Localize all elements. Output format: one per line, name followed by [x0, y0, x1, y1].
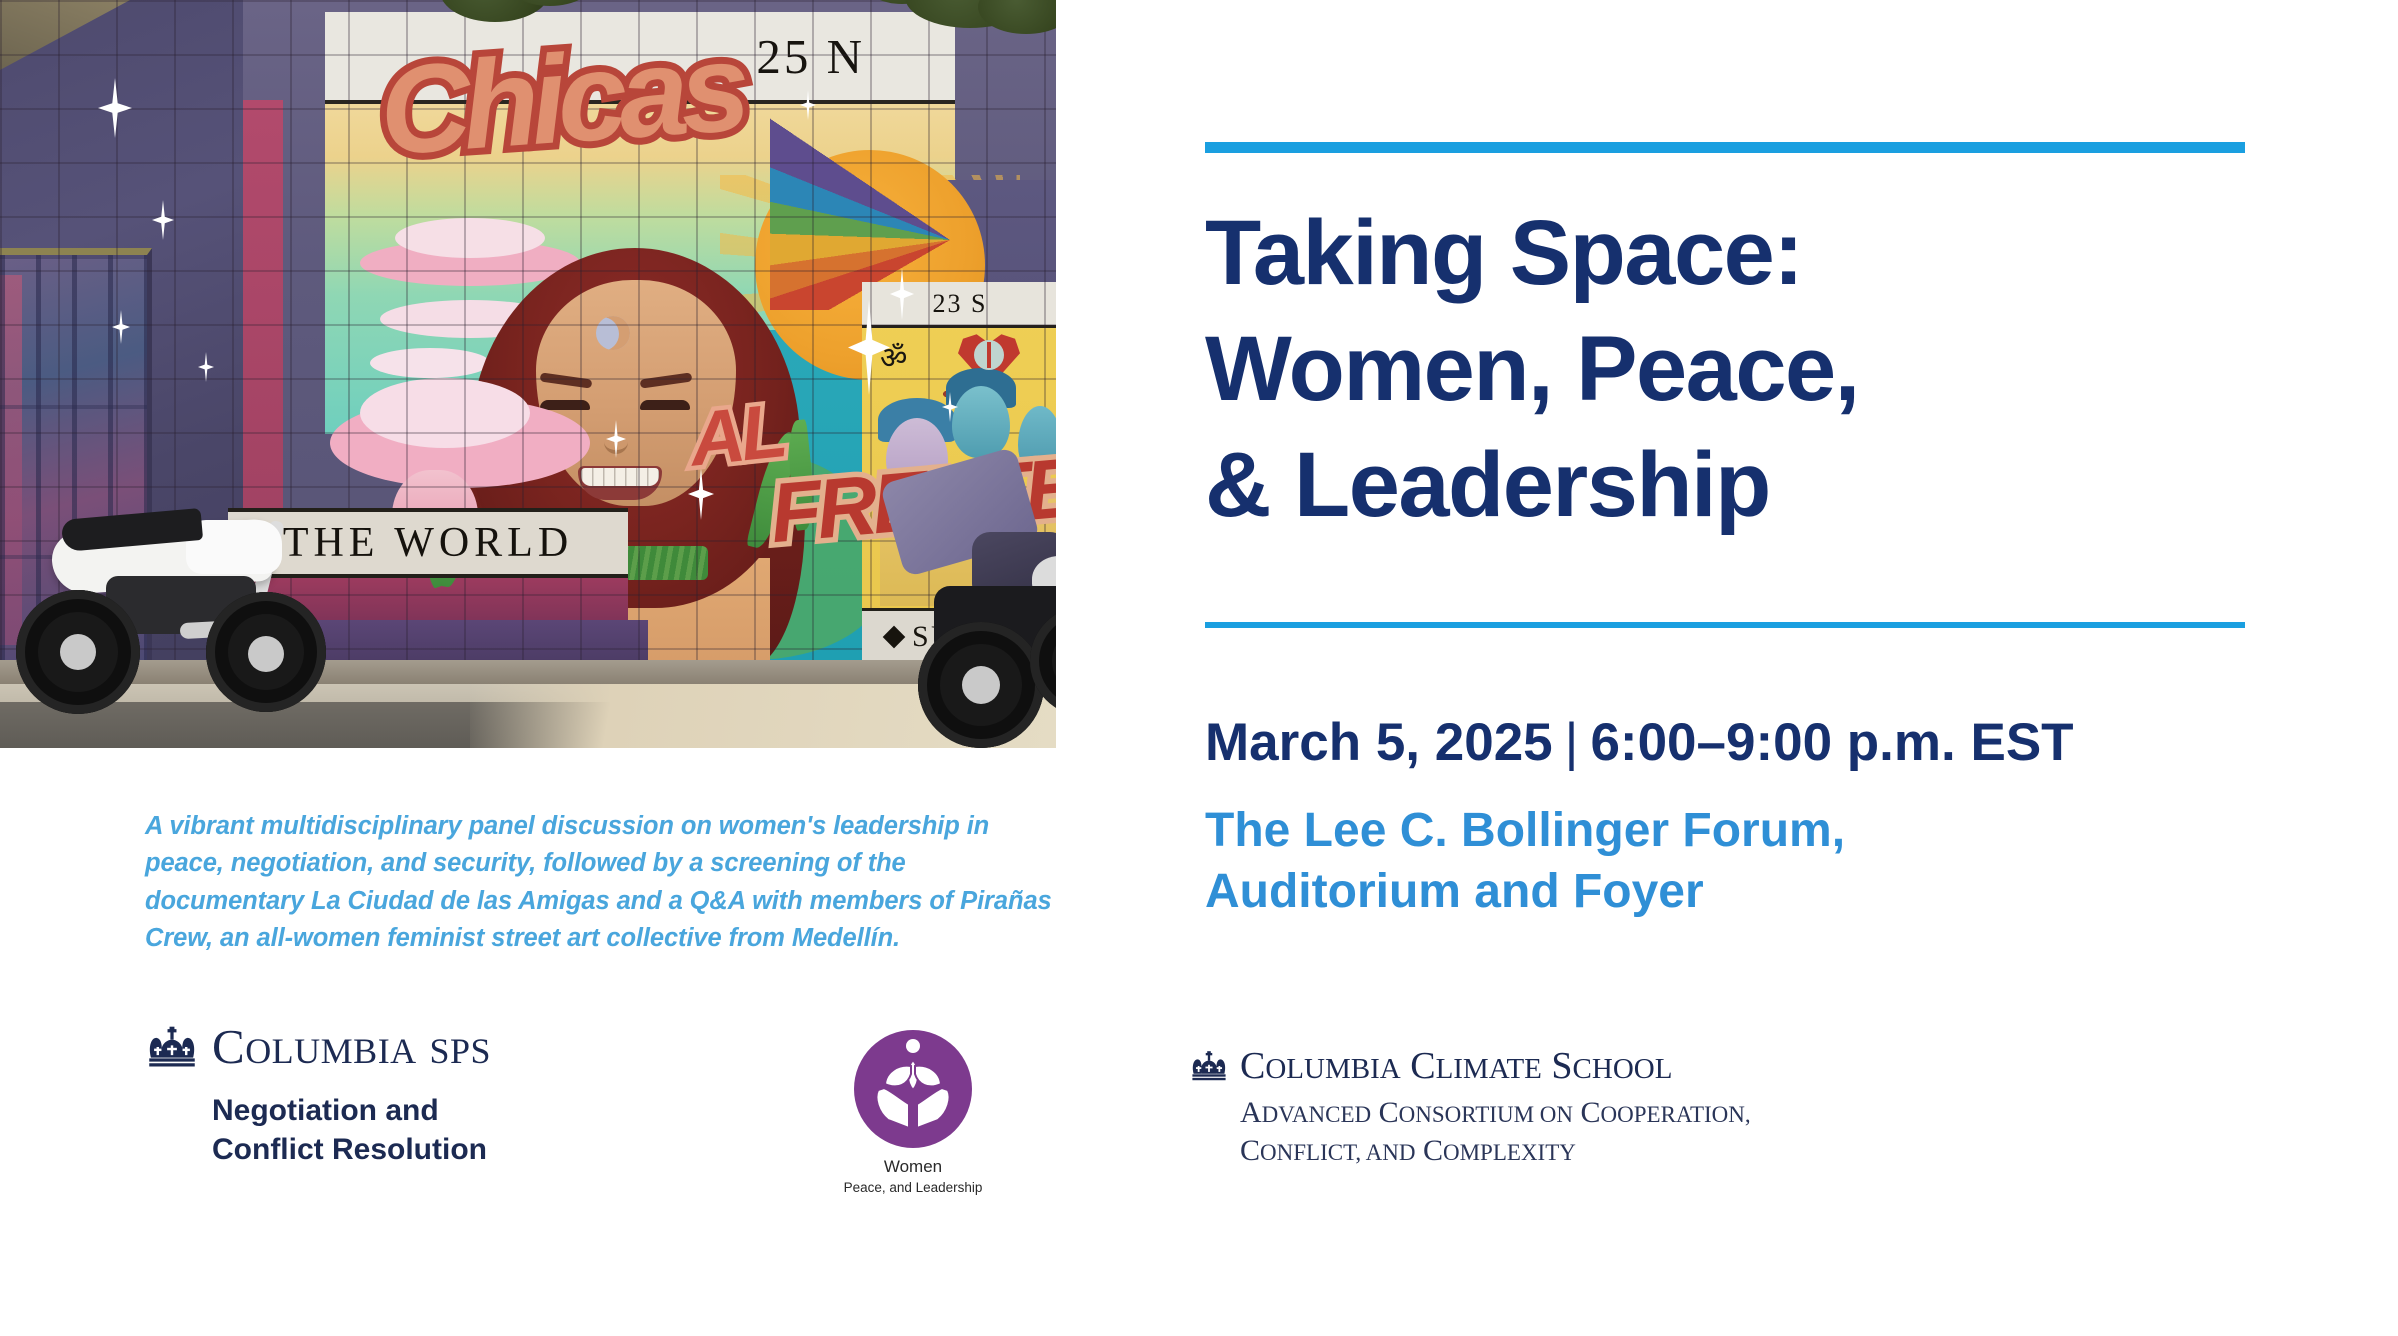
street-mural-photo: 25 N — [0, 0, 1056, 748]
sps-word-abbrev: SPS — [429, 1031, 491, 1071]
ccs-l3a: C — [1240, 1134, 1260, 1167]
event-description: A vibrant multidisciplinary panel discus… — [145, 808, 1065, 958]
event-venue: The Lee C. Bollinger Forum, Auditorium a… — [1205, 800, 2065, 923]
ccs-l2f: OOPERATION, — [1601, 1102, 1751, 1127]
portrait-teeth — [581, 468, 659, 486]
mural-cloud — [395, 218, 545, 258]
columbia-sps-wordmark-text: COLUMBIA SPS — [212, 1018, 491, 1075]
om-symbol-icon: ॐ — [880, 336, 907, 377]
portrait-mouth — [578, 466, 662, 500]
ccs-l2d: ONSORTIUM ON — [1399, 1102, 1573, 1127]
event-venue-line2: Auditorium and Foyer — [1205, 861, 2065, 922]
columbia-crown-icon — [1190, 1050, 1228, 1082]
ccs-l2e: C — [1581, 1096, 1601, 1129]
event-datetime: March 5, 2025|6:00–9:00 p.m. EST — [1205, 712, 2074, 773]
portrait-eye — [540, 400, 590, 410]
portrait-eye — [640, 400, 690, 410]
wpl-name: Women — [823, 1157, 1003, 1177]
ccs-consortium-line1: ADVANCED CONSORTIUM ON COOPERATION, — [1240, 1094, 2050, 1132]
ccs-l1b: OLUMBIA — [1265, 1053, 1400, 1085]
columbia-climate-school-logo: COLUMBIA CLIMATE SCHOOL ADVANCED CONSORT… — [1190, 1044, 2050, 1171]
datetime-separator: | — [1553, 713, 1591, 772]
ccs-consortium-line2: CONFLICT, AND COMPLEXITY — [1240, 1132, 2050, 1170]
event-venue-line1: The Lee C. Bollinger Forum, — [1205, 800, 2065, 861]
event-poster: 25 N — [0, 0, 2398, 1336]
facade-roof — [0, 0, 130, 70]
motorcycle-hub — [60, 634, 96, 670]
ccs-consortium-name: ADVANCED CONSORTIUM ON COOPERATION, CONF… — [1240, 1094, 2050, 1171]
white-motorcycle — [10, 480, 350, 730]
ccs-l1e: S — [1551, 1045, 1572, 1087]
portrait-brow — [540, 372, 593, 388]
event-time: 6:00–9:00 p.m. EST — [1590, 713, 2073, 772]
sps-program-line2: Conflict Resolution — [212, 1130, 666, 1169]
event-title-line2: Women, Peace, — [1205, 312, 2265, 428]
ccs-l2b: DVANCED — [1262, 1102, 1371, 1127]
columbia-sps-wordmark: COLUMBIA SPS — [146, 1018, 666, 1075]
wpl-tagline: Peace, and Leadership — [823, 1180, 1003, 1195]
motorcycle-hub — [248, 636, 284, 672]
columbia-sps-logo: COLUMBIA SPS Negotiation and Conflict Re… — [146, 1018, 666, 1169]
dark-motorcycle — [880, 436, 1056, 736]
mural-banner-25n-text: 25 N — [756, 28, 865, 85]
lotus-in-hands-icon — [854, 1030, 972, 1148]
ccs-l1c: C — [1410, 1045, 1435, 1087]
columbia-crown-icon — [146, 1025, 198, 1069]
sps-program-name: Negotiation and Conflict Resolution — [212, 1091, 666, 1169]
event-date: March 5, 2025 — [1205, 713, 1553, 772]
accent-rule-top — [1205, 142, 2245, 153]
wpl-circle-badge — [854, 1030, 972, 1148]
event-title-line3: & Leadership — [1205, 428, 2265, 544]
ccs-l1d: LIMATE — [1436, 1053, 1542, 1085]
sps-word-initial: C — [212, 1019, 245, 1074]
peace-sign-icon — [974, 340, 1004, 370]
ccs-wordmark-text: COLUMBIA CLIMATE SCHOOL — [1240, 1044, 1672, 1088]
sps-word-rest: OLUMBIA — [245, 1031, 417, 1071]
accent-rule-middle — [1205, 622, 2245, 628]
sps-program-line1: Negotiation and — [212, 1091, 666, 1130]
mural-banner-23s-text: 23 S — [933, 289, 988, 319]
ccs-l1f: CHOOL — [1573, 1053, 1673, 1085]
event-title-line1: Taking Space: — [1205, 196, 2265, 312]
mural-banner-23s: 23 S — [862, 282, 1056, 328]
ccs-l3b: ONFLICT, AND — [1260, 1140, 1415, 1165]
mural-cloud — [370, 348, 490, 378]
crescent-moon-icon — [596, 316, 630, 350]
ccs-wordmark: COLUMBIA CLIMATE SCHOOL — [1190, 1044, 2050, 1088]
motorcycle-hub — [962, 666, 1000, 704]
ccs-l3c: C — [1423, 1134, 1443, 1167]
mural-graffiti-chicas: Chicas — [375, 16, 746, 184]
mural-pink-cloud — [360, 378, 530, 448]
ccs-l3d: OMPLEXITY — [1443, 1140, 1576, 1165]
ccs-l2c: C — [1379, 1096, 1399, 1129]
ccs-l1a: C — [1240, 1045, 1265, 1087]
women-peace-leadership-logo: Women Peace, and Leadership — [823, 1030, 1003, 1195]
mural-woman-portrait — [560, 258, 570, 268]
portrait-brow — [640, 372, 693, 388]
ccs-l2a: A — [1240, 1096, 1262, 1129]
event-title: Taking Space: Women, Peace, & Leadership — [1205, 196, 2265, 544]
left-column: 25 N — [0, 0, 1060, 1336]
